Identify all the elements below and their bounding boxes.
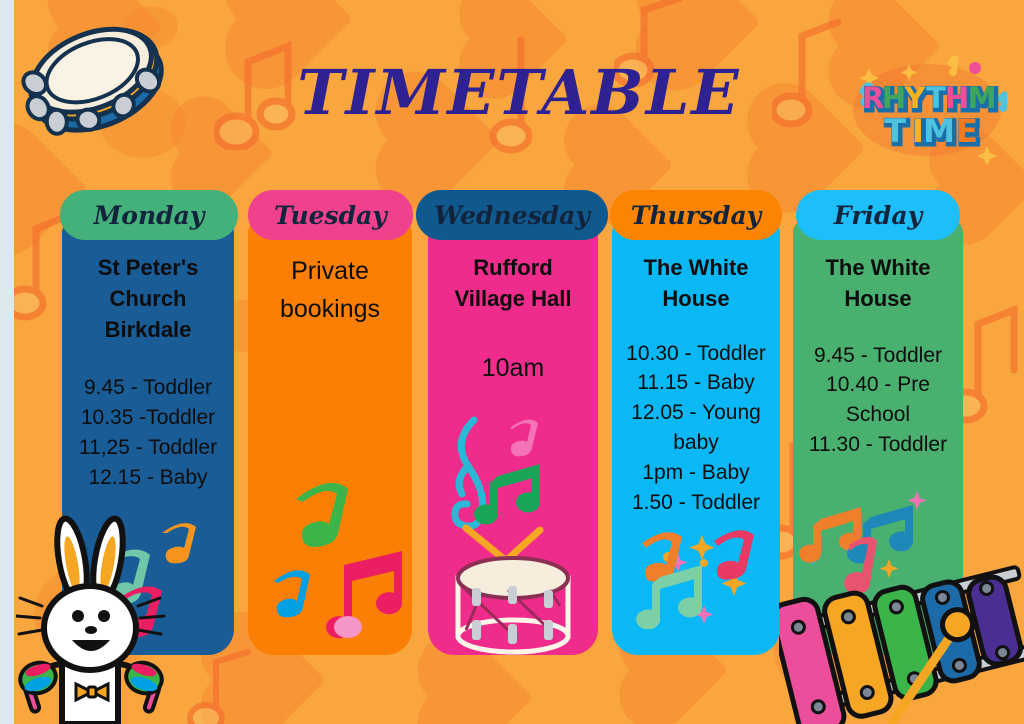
session-times: 10.30 - Toddler 11.15 - Baby 12.05 - You… (612, 339, 780, 518)
svg-text:H: H (945, 81, 969, 115)
svg-text:M: M (968, 81, 997, 115)
day-column-tuesday[interactable]: Private bookings (248, 219, 412, 655)
column-decor-treble-clef-and-drum (428, 410, 598, 655)
svg-text:Y: Y (904, 81, 927, 115)
day-column-wednesday[interactable]: Rufford Village Hall 10am (428, 219, 598, 655)
day-column-thursday[interactable]: The White House 10.30 - Toddler 11.15 - … (612, 219, 780, 655)
column-decor-music-notes (248, 475, 412, 645)
session-times: 9.45 - Toddler 10.35 -Toddler 11,25 - To… (62, 373, 234, 492)
session-times: 10am (428, 351, 598, 387)
rhythm-time-logo: R R H H Y Y T T H H M M T T I I M M (847, 52, 1007, 164)
venue-name: Private bookings (248, 253, 412, 328)
svg-text:T: T (926, 81, 946, 115)
svg-text:E: E (956, 112, 978, 150)
svg-text:M: M (923, 112, 955, 150)
day-header-friday[interactable]: Friday (796, 190, 960, 240)
day-header-wednesday[interactable]: Wednesday (416, 190, 608, 240)
svg-text:H: H (882, 81, 906, 115)
venue-name: St Peter's Church Birkdale (62, 253, 234, 345)
column-decor-music-notes-sparkles (612, 527, 780, 653)
svg-text:R: R (862, 81, 884, 115)
day-name: Wednesday (434, 201, 590, 230)
venue-name: Rufford Village Hall (428, 253, 598, 315)
bunny-with-maracas-illustration (16, 512, 181, 724)
day-header-tuesday[interactable]: Tuesday (248, 190, 413, 240)
day-name: Friday (834, 201, 922, 230)
session-times: 9.45 - Toddler 10.40 - Pre School 11.30 … (793, 341, 963, 460)
venue-name: The White House (612, 253, 780, 315)
svg-text:T: T (884, 112, 906, 150)
day-name: Monday (94, 201, 205, 230)
day-name: Tuesday (274, 201, 387, 230)
poster-canvas: TIMETABLE R (14, 0, 1024, 724)
day-header-monday[interactable]: Monday (60, 190, 238, 240)
day-name: Thursday (631, 201, 761, 230)
day-header-thursday[interactable]: Thursday (610, 190, 782, 240)
venue-name: The White House (793, 253, 963, 315)
tambourine-illustration (16, 12, 176, 147)
xylophone-illustration (779, 565, 1024, 724)
